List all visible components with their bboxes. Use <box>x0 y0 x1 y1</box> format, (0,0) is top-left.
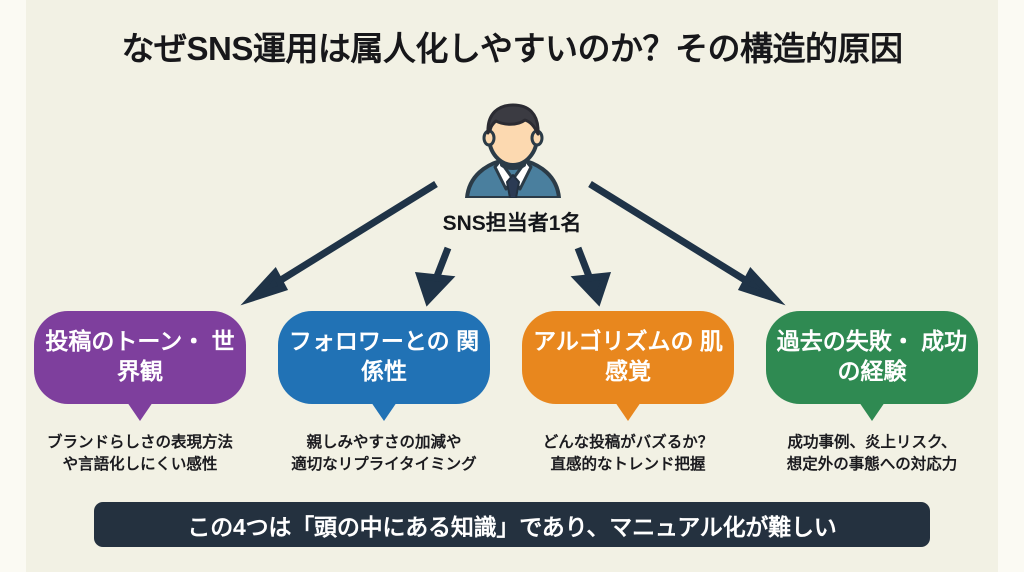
factor-caption: ブランドらしさの表現方法 や言語化しにくい感性 <box>34 432 246 477</box>
factor-caption: 成功事例、炎上リスク、 想定外の事態への対応力 <box>766 432 978 477</box>
arrow-connectors <box>0 0 1024 572</box>
factor-bubble: フォロワーとの 関係性 <box>278 311 490 404</box>
factor-card-experience[interactable]: 過去の失敗・ 成功の経験 成功事例、炎上リスク、 想定外の事態への対応力 <box>766 311 978 477</box>
factor-bubble: 過去の失敗・ 成功の経験 <box>766 311 978 404</box>
factor-caption: 親しみやすさの加減や 適切なリプライタイミング <box>278 432 490 477</box>
factor-label: アルゴリズムの 肌感覚 <box>532 327 724 387</box>
businessperson-avatar-icon <box>459 103 567 198</box>
factor-card-algorithm[interactable]: アルゴリズムの 肌感覚 どんな投稿がバズるか？ 直感的なトレンド把握 <box>522 311 734 477</box>
factor-label: フォロワーとの 関係性 <box>288 327 480 387</box>
factor-card-tone[interactable]: 投稿のトーン・ 世界観 ブランドらしさの表現方法 や言語化しにくい感性 <box>34 311 246 477</box>
factor-bubble: アルゴリズムの 肌感覚 <box>522 311 734 404</box>
factor-label: 投稿のトーン・ 世界観 <box>44 327 236 387</box>
factor-card-relationship[interactable]: フォロワーとの 関係性 親しみやすさの加減や 適切なリプライタイミング <box>278 311 490 477</box>
page-title: なぜSNS運用は属人化しやすいのか？その構造的原因 <box>0 22 1024 70</box>
factor-label: 過去の失敗・ 成功の経験 <box>776 327 968 387</box>
factor-caption: どんな投稿がバズるか？ 直感的なトレンド把握 <box>522 432 734 477</box>
infographic-canvas: なぜSNS運用は属人化しやすいのか？その構造的原因 SNS担当者1名 <box>0 0 1024 572</box>
factor-bubble: 投稿のトーン・ 世界観 <box>34 311 246 404</box>
conclusion-banner: この4つは「頭の中にある知識」であり、マニュアル化が難しい <box>94 502 930 547</box>
center-node-label: SNS担当者1名 <box>0 207 1024 237</box>
conclusion-text: この4つは「頭の中にある知識」であり、マニュアル化が難しい <box>187 508 836 542</box>
